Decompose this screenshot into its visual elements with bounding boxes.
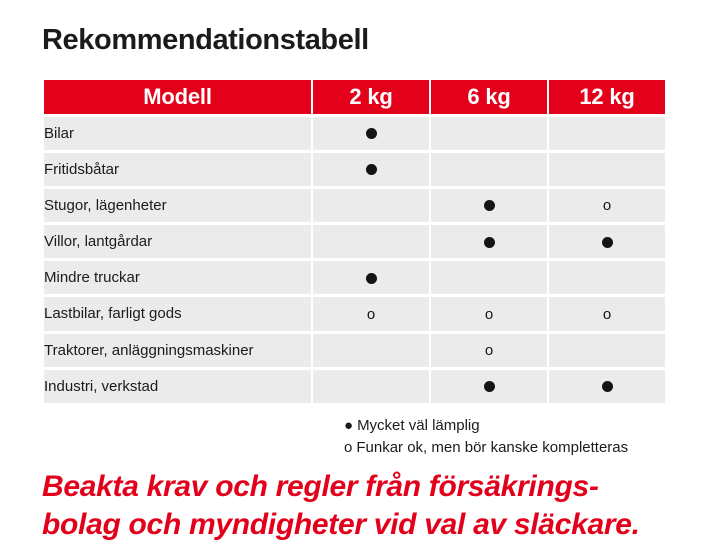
mark-cell-12kg: o <box>549 189 665 222</box>
open-circle-icon: o <box>344 437 352 459</box>
open-circle-icon: o <box>603 298 611 331</box>
column-header-6kg: 6 kg <box>431 80 547 114</box>
filled-dot-icon <box>366 128 377 139</box>
legend: ●Mycket väl lämpligoFunkar ok, men bör k… <box>344 415 628 459</box>
filled-dot-icon <box>366 164 377 175</box>
filled-dot-icon: ● <box>344 415 353 437</box>
column-header-model: Modell <box>44 80 311 114</box>
filled-dot-icon <box>366 273 377 284</box>
legend-item: ●Mycket väl lämplig <box>344 415 628 437</box>
legend-label: Funkar ok, men bör kanske kompletteras <box>356 439 628 456</box>
model-cell: Stugor, lägenheter <box>44 189 311 222</box>
table-row: Fritidsbåtar <box>44 153 665 186</box>
filled-dot-icon <box>484 381 495 392</box>
column-header-2kg: 2 kg <box>313 80 429 114</box>
mark-cell-2kg <box>313 117 429 150</box>
model-cell: Lastbilar, farligt gods <box>44 297 311 330</box>
mark-cell-6kg <box>431 117 547 150</box>
open-circle-icon: o <box>485 334 493 367</box>
page-title: Rekommendationstabell <box>42 26 369 55</box>
mark-cell-12kg: o <box>549 297 665 330</box>
model-cell: Traktorer, anläggningsmaskiner <box>44 334 311 367</box>
mark-cell-12kg <box>549 370 665 403</box>
table-row: Lastbilar, farligt godsooo <box>44 297 665 330</box>
mark-cell-12kg <box>549 334 665 367</box>
table-row: Stugor, lägenhetero <box>44 189 665 222</box>
model-cell: Fritidsbåtar <box>44 153 311 186</box>
mark-cell-2kg <box>313 334 429 367</box>
filled-dot-icon <box>484 237 495 248</box>
open-circle-icon: o <box>603 189 611 222</box>
mark-cell-2kg: o <box>313 297 429 330</box>
mark-cell-6kg <box>431 189 547 222</box>
mark-cell-12kg <box>549 261 665 294</box>
table-row: Mindre truckar <box>44 261 665 294</box>
filled-dot-icon <box>602 381 613 392</box>
legend-item: oFunkar ok, men bör kanske kompletteras <box>344 437 628 459</box>
recommendation-table-page: Rekommendationstabell Modell 2 kg 6 kg 1… <box>0 0 709 560</box>
table-header-row: Modell 2 kg 6 kg 12 kg <box>44 80 665 114</box>
table-row: Traktorer, anläggningsmaskinero <box>44 334 665 367</box>
footer-note-line-2: bolag och myndigheter vid val av släckar… <box>42 506 702 544</box>
table-body: BilarFritidsbåtarStugor, lägenheteroVill… <box>44 117 665 403</box>
mark-cell-2kg <box>313 153 429 186</box>
model-cell: Villor, lantgårdar <box>44 225 311 258</box>
mark-cell-6kg <box>431 153 547 186</box>
mark-cell-6kg <box>431 225 547 258</box>
mark-cell-12kg <box>549 225 665 258</box>
mark-cell-12kg <box>549 153 665 186</box>
mark-cell-2kg <box>313 225 429 258</box>
filled-dot-icon <box>602 237 613 248</box>
table-row: Industri, verkstad <box>44 370 665 403</box>
table-header: Modell 2 kg 6 kg 12 kg <box>44 80 665 114</box>
footer-note-line-1: Beakta krav och regler från försäkrings- <box>42 468 702 506</box>
mark-cell-6kg: o <box>431 297 547 330</box>
mark-cell-6kg <box>431 261 547 294</box>
footer-note: Beakta krav och regler från försäkrings-… <box>42 468 702 544</box>
model-cell: Industri, verkstad <box>44 370 311 403</box>
mark-cell-2kg <box>313 261 429 294</box>
mark-cell-6kg <box>431 370 547 403</box>
table-row: Villor, lantgårdar <box>44 225 665 258</box>
recommendation-table: Modell 2 kg 6 kg 12 kg BilarFritidsbåtar… <box>42 77 667 406</box>
open-circle-icon: o <box>367 298 375 331</box>
filled-dot-icon <box>484 200 495 211</box>
model-cell: Bilar <box>44 117 311 150</box>
mark-cell-2kg <box>313 189 429 222</box>
table-row: Bilar <box>44 117 665 150</box>
open-circle-icon: o <box>485 298 493 331</box>
legend-label: Mycket väl lämplig <box>357 417 480 434</box>
column-header-12kg: 12 kg <box>549 80 665 114</box>
mark-cell-6kg: o <box>431 334 547 367</box>
mark-cell-12kg <box>549 117 665 150</box>
mark-cell-2kg <box>313 370 429 403</box>
model-cell: Mindre truckar <box>44 261 311 294</box>
